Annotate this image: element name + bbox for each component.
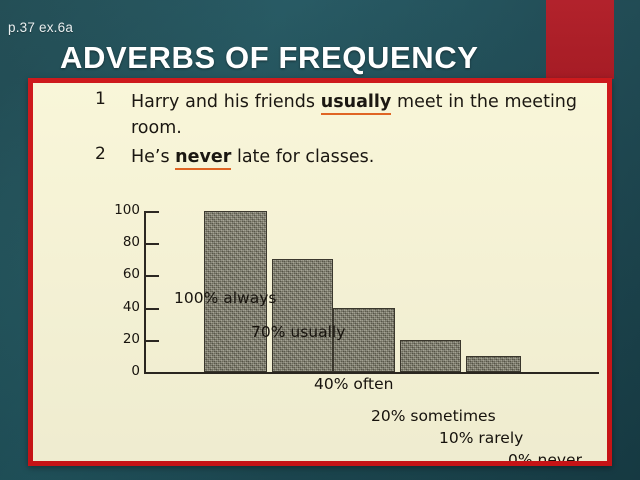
header-accent-bar: [546, 0, 614, 79]
exercise-list: 1 Harry and his friends usually meet in …: [33, 89, 607, 170]
chart-y-tick-mark: [146, 243, 159, 245]
chart-y-tick-label: 60: [106, 266, 140, 282]
chart-data-label: 0% never: [508, 451, 582, 461]
slide: p.37 ex.6a ADVERBS OF FREQUENCY 1 Harry …: [0, 0, 640, 480]
chart-y-tick-mark: [146, 340, 159, 342]
list-item: 1 Harry and his friends usually meet in …: [33, 89, 607, 141]
chart-y-tick-label: 20: [106, 331, 140, 347]
page-reference: p.37 ex.6a: [8, 20, 73, 35]
chart-y-tick-mark: [146, 372, 159, 374]
chart-data-label: 40% often: [314, 375, 393, 393]
sentence-part-before: Harry and his friends: [131, 92, 321, 112]
chart-y-tick-label: 0: [106, 363, 140, 379]
item-number: 2: [95, 144, 106, 164]
worksheet-image: 1 Harry and his friends usually meet in …: [33, 83, 607, 461]
chart-y-tick-mark: [146, 308, 159, 310]
chart-data-label: 20% sometimes: [371, 407, 496, 425]
item-number: 1: [95, 89, 106, 109]
chart-bar: [272, 259, 333, 372]
chart-y-tick-label: 80: [106, 234, 140, 250]
page-title: ADVERBS OF FREQUENCY: [60, 40, 478, 76]
chart-bar: [400, 340, 461, 372]
chart-data-label: 100% always: [174, 289, 276, 307]
frequency-bar-chart: 020406080100 100% always70% usually40% o…: [61, 201, 606, 451]
adverb-keyword: usually: [321, 92, 392, 112]
chart-y-tick-mark: [146, 275, 159, 277]
chart-data-label: 70% usually: [251, 323, 345, 341]
item-sentence: He’s never late for classes.: [91, 144, 577, 170]
chart-data-label: 10% rarely: [439, 429, 523, 447]
chart-y-tick-label: 100: [106, 202, 140, 218]
chart-y-tick-label: 40: [106, 299, 140, 315]
content-panel: 1 Harry and his friends usually meet in …: [28, 78, 612, 466]
chart-y-tick-mark: [146, 211, 159, 213]
list-item: 2 He’s never late for classes.: [33, 144, 607, 170]
chart-bar: [466, 356, 521, 372]
sentence-part-after: late for classes.: [231, 147, 374, 167]
sentence-part-before: He’s: [131, 147, 175, 167]
adverb-keyword: never: [175, 147, 231, 167]
item-sentence: Harry and his friends usually meet in th…: [91, 89, 577, 141]
chart-x-axis: [144, 372, 599, 374]
